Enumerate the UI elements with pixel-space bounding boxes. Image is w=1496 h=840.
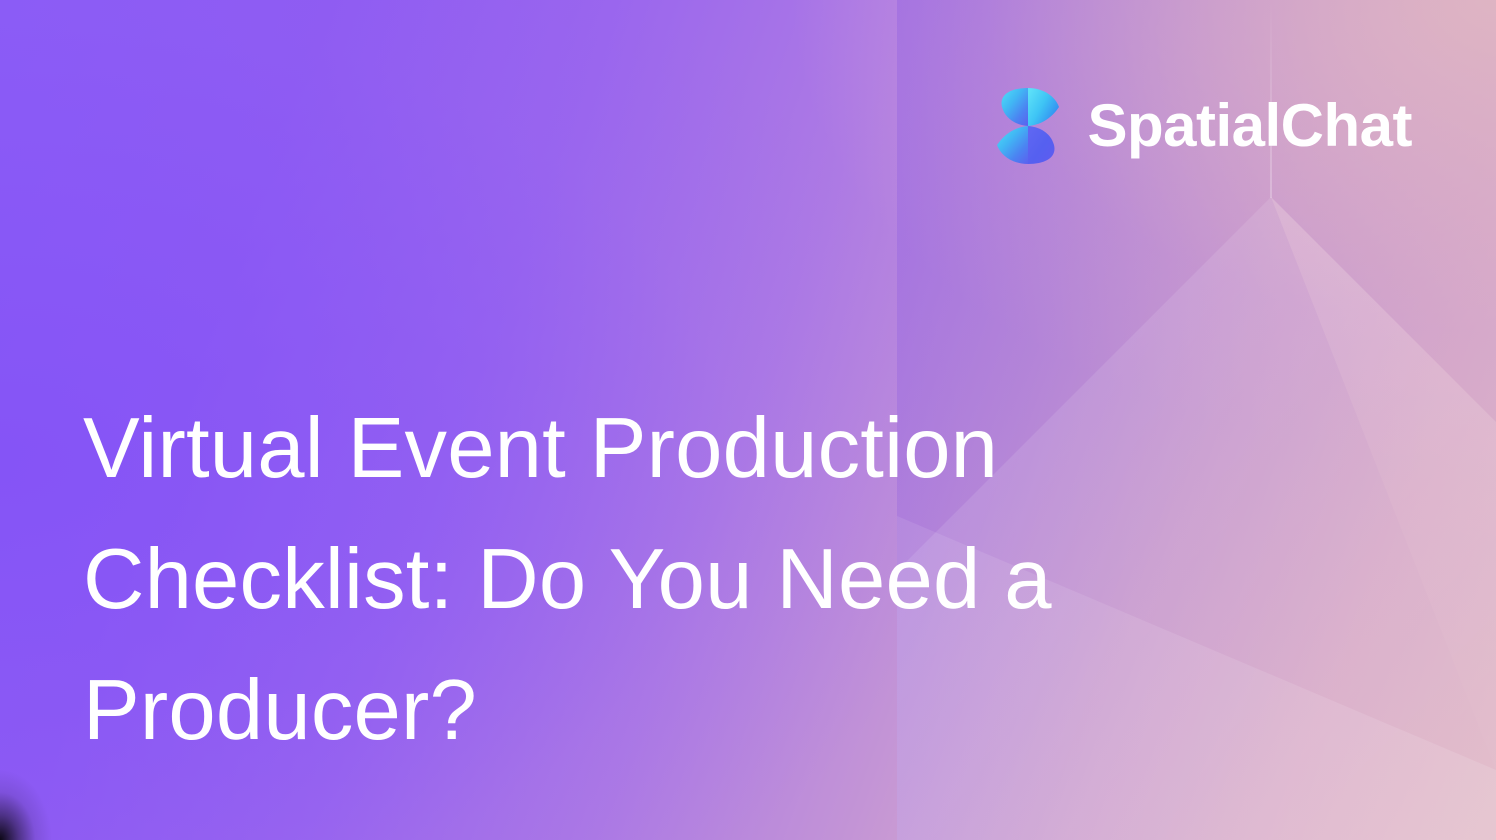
headline-line-2: Checklist: Do You Need a (83, 514, 1223, 645)
brand-wordmark: SpatialChat (1087, 96, 1412, 156)
corner-vignette (0, 745, 70, 840)
headline: Virtual Event Production Checklist: Do Y… (83, 383, 1223, 776)
blog-cover-banner: SpatialChat Virtual Event Production Che… (0, 0, 1496, 840)
spatialchat-s-logo-icon (995, 80, 1061, 172)
headline-line-3: Producer? (83, 645, 1223, 776)
brand-lockup: SpatialChat (995, 80, 1412, 172)
headline-line-1: Virtual Event Production (83, 383, 1223, 514)
